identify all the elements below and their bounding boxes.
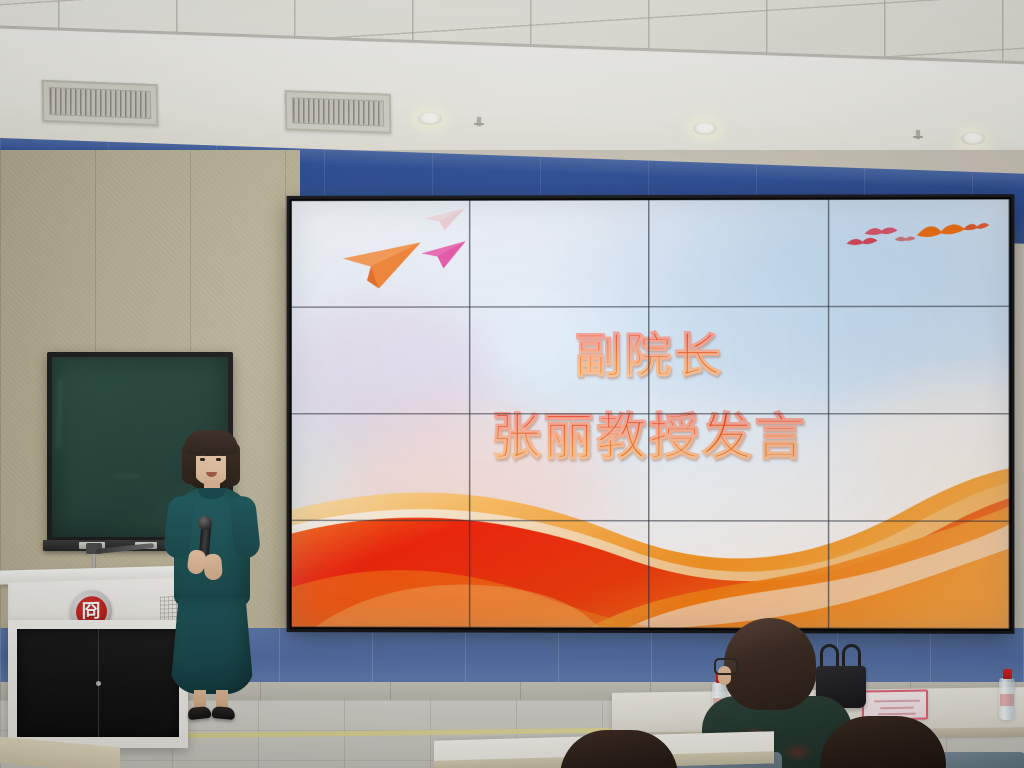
name-card-text-line: [874, 700, 920, 703]
chalk-smudge: [57, 379, 62, 449]
presenter-shoe-left: [187, 706, 211, 720]
hvac-vent-left-icon: [42, 80, 159, 126]
water-bottle-3: [999, 678, 1015, 720]
name-card-text-line: [880, 707, 914, 710]
paper-plane-pink-icon: [419, 238, 469, 275]
presenter-eye-right: [216, 458, 221, 461]
vent-louvers: [49, 87, 151, 119]
conference-hall-photo: 副院长 张丽教授发言 冏: [0, 0, 1024, 768]
presenter-hand-right: [203, 553, 223, 580]
ceiling: [0, 0, 1024, 150]
presenter-dress-skirt: [170, 598, 254, 694]
presenter-hair-front: [184, 430, 238, 456]
audience-member-front-center: [560, 730, 680, 768]
presenter-shoe-right: [212, 706, 236, 720]
presenter-eye-left: [200, 458, 205, 461]
sprinkler-1-icon: [477, 117, 481, 126]
chalk-smudge: [114, 475, 140, 477]
audience-member-head: [560, 730, 678, 768]
podium-cabinet-doors[interactable]: [17, 629, 179, 737]
hvac-vent-right-icon: [285, 90, 392, 134]
presenter-sleeve-right: [229, 495, 261, 559]
led-video-wall[interactable]: 副院长 张丽教授发言: [290, 197, 1012, 631]
slide-title-line-1: 副院长: [292, 328, 1010, 386]
audience-member-front-right: [820, 716, 950, 768]
vent-louvers: [292, 97, 384, 126]
slide-title-block: 副院长 张丽教授发言: [292, 328, 1010, 469]
sprinkler-2-icon: [916, 130, 920, 139]
flying-birds-group-icon: [842, 217, 991, 264]
paper-plane-faint-pink-icon: [423, 206, 467, 237]
slide-title-line-2: 张丽教授发言: [292, 407, 1010, 468]
downlight-1-icon: [418, 112, 442, 125]
cabinet-knob[interactable]: [96, 681, 101, 686]
presenter-speaker: [160, 430, 270, 720]
led-slide-surface: 副院长 张丽教授发言: [292, 199, 1010, 629]
presenter-brow-right: [215, 454, 222, 456]
name-card-text-line: [878, 713, 916, 716]
paper-plane-orange-icon: [339, 238, 424, 297]
eyeglasses-icon: [714, 658, 738, 675]
audience-member-head: [820, 716, 946, 768]
downlight-3-icon: [961, 132, 985, 145]
presenter-brow-left: [199, 454, 206, 456]
downlight-2-icon: [693, 122, 717, 135]
